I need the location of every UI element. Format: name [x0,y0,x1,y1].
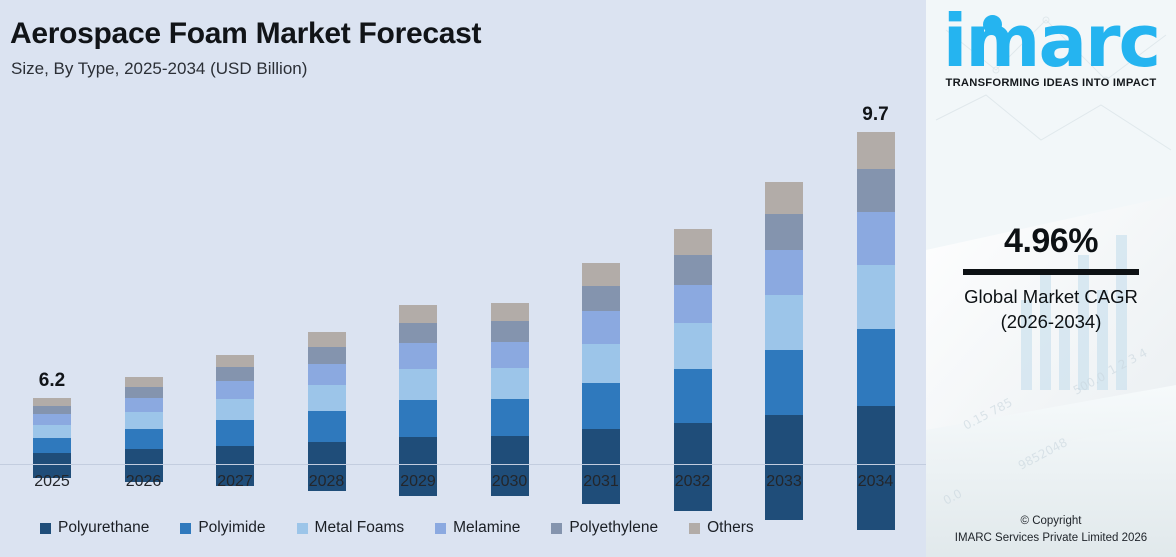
bar-group[interactable] [582,263,620,465]
bar-segment[interactable] [399,343,437,369]
bar-segment[interactable] [674,255,712,285]
bar-segment[interactable] [308,411,346,442]
imarc-logo: imarc TRANSFORMING IDEAS INTO IMPACT [926,8,1176,89]
legend-label: Melamine [453,519,520,537]
bar-group[interactable] [216,355,254,465]
legend-item-polyimide[interactable]: Polyimide [180,519,265,537]
bar-segment[interactable] [125,398,163,412]
bar-segment[interactable] [491,303,529,321]
legend-item-melamine[interactable]: Melamine [435,519,520,537]
bar-group[interactable] [674,229,712,465]
legend-label: Others [707,519,754,537]
bar-group[interactable]: 6.2 [33,398,71,465]
bar-stack[interactable] [399,305,437,465]
bar-segment[interactable] [674,369,712,424]
bar-segment[interactable] [399,323,437,343]
brand-panel: 0.15 785 9852048 500.0 1 2 3 4 0.0 imarc… [926,0,1176,557]
x-axis-tick-2030: 2030 [470,473,550,491]
bar-segment[interactable] [216,399,254,420]
bar-segment[interactable] [765,415,803,520]
bar-segment[interactable] [857,406,895,529]
bar-segment[interactable] [33,438,71,454]
cagr-caption-primary: Global Market CAGR [926,285,1176,310]
x-axis-tick-2031: 2031 [561,473,641,491]
bar-segment[interactable] [491,399,529,437]
logo-dot-icon [983,15,1002,34]
bar-total-label: 6.2 [12,370,92,392]
x-axis-tick-2028: 2028 [287,473,367,491]
bar-segment[interactable] [308,364,346,385]
cagr-callout: 4.96% Global Market CAGR (2026-2034) [926,222,1176,335]
bar-segment[interactable] [125,429,163,449]
x-axis-tick-2032: 2032 [653,473,733,491]
bar-segment[interactable] [125,377,163,387]
bar-group[interactable] [399,305,437,465]
x-axis-tick-2029: 2029 [378,473,458,491]
copyright-notice: © Copyright IMARC Services Private Limit… [926,513,1176,548]
bar-segment[interactable] [33,398,71,406]
bar-segment[interactable] [125,412,163,429]
bar-segment[interactable] [857,329,895,406]
bar-group[interactable] [491,303,529,465]
bar-segment[interactable] [308,332,346,347]
bar-segment[interactable] [582,311,620,343]
legend-item-others[interactable]: Others [689,519,754,537]
bar-segment[interactable] [765,250,803,295]
bar-segment[interactable] [308,385,346,411]
bar-stack[interactable] [33,398,71,465]
bar-segment[interactable] [491,321,529,342]
chart-panel: Aerospace Foam Market Forecast Size, By … [0,0,926,557]
bar-total-label: 9.7 [836,104,916,126]
copyright-line-1: © Copyright [926,513,1176,530]
legend-label: Polyurethane [58,519,149,537]
bar-segment[interactable] [33,414,71,425]
bar-segment[interactable] [857,212,895,265]
copyright-line-2: IMARC Services Private Limited 2026 [926,530,1176,547]
bar-stack[interactable] [125,377,163,465]
bar-stack[interactable] [582,263,620,465]
legend-item-metal-foams[interactable]: Metal Foams [297,519,405,537]
legend-swatch-icon [435,523,446,534]
x-axis-tick-2033: 2033 [744,473,824,491]
bar-segment[interactable] [582,286,620,312]
bar-segment[interactable] [582,344,620,383]
legend-label: Polyimide [198,519,265,537]
bar-segment[interactable] [857,169,895,211]
bar-segment[interactable] [399,305,437,323]
plot-area: 6.29.7 [0,0,926,465]
bar-segment[interactable] [765,295,803,350]
bar-segment[interactable] [674,323,712,369]
bar-stack[interactable] [216,355,254,465]
bar-stack[interactable] [674,229,712,465]
bar-stack[interactable] [308,332,346,465]
cagr-divider [963,269,1139,275]
bar-segment[interactable] [491,342,529,368]
bar-group[interactable] [765,182,803,465]
bar-segment[interactable] [399,400,437,437]
bar-segment[interactable] [765,350,803,416]
bar-segment[interactable] [399,369,437,400]
x-axis-labels: 2025202620272028202920302031203220332034 [0,470,926,498]
bar-segment[interactable] [216,381,254,399]
cagr-caption-period: (2026-2034) [926,310,1176,335]
cagr-value: 4.96% [926,222,1176,261]
bar-group[interactable] [308,332,346,465]
bar-segment[interactable] [216,355,254,367]
x-axis-tick-2027: 2027 [195,473,275,491]
bar-stack[interactable] [857,132,895,465]
bar-segment[interactable] [582,383,620,430]
logo-wordmark-label: imarc [943,0,1159,83]
legend-swatch-icon [180,523,191,534]
legend-label: Polyethylene [569,519,658,537]
legend-swatch-icon [297,523,308,534]
bar-stack[interactable] [765,182,803,465]
bar-segment[interactable] [33,425,71,438]
bar-segment[interactable] [674,229,712,255]
bar-segment[interactable] [674,285,712,323]
x-axis-tick-2034: 2034 [836,473,916,491]
bar-group[interactable]: 9.7 [857,132,895,465]
bar-segment[interactable] [857,265,895,329]
logo-wordmark-text: imarc [926,8,1176,74]
bar-segment[interactable] [765,214,803,250]
x-axis-line [0,464,926,465]
bar-segment[interactable] [33,406,71,415]
bar-group[interactable] [125,377,163,465]
x-axis-tick-2025: 2025 [12,473,92,491]
bar-stack[interactable] [491,303,529,465]
chart-screenshot: Aerospace Foam Market Forecast Size, By … [0,0,1176,557]
bar-segment[interactable] [216,367,254,381]
bar-segment[interactable] [308,347,346,364]
chart-legend: PolyurethanePolyimideMetal FoamsMelamine… [0,513,926,543]
bar-segment[interactable] [765,182,803,214]
bar-segment[interactable] [857,132,895,169]
legend-swatch-icon [40,523,51,534]
bar-segment[interactable] [582,263,620,286]
bar-segment[interactable] [125,387,163,398]
x-axis-tick-2026: 2026 [104,473,184,491]
legend-swatch-icon [551,523,562,534]
legend-label: Metal Foams [315,519,405,537]
legend-swatch-icon [689,523,700,534]
legend-item-polyethylene[interactable]: Polyethylene [551,519,658,537]
bar-segment[interactable] [216,420,254,446]
bar-segment[interactable] [491,368,529,399]
legend-item-polyurethane[interactable]: Polyurethane [40,519,149,537]
